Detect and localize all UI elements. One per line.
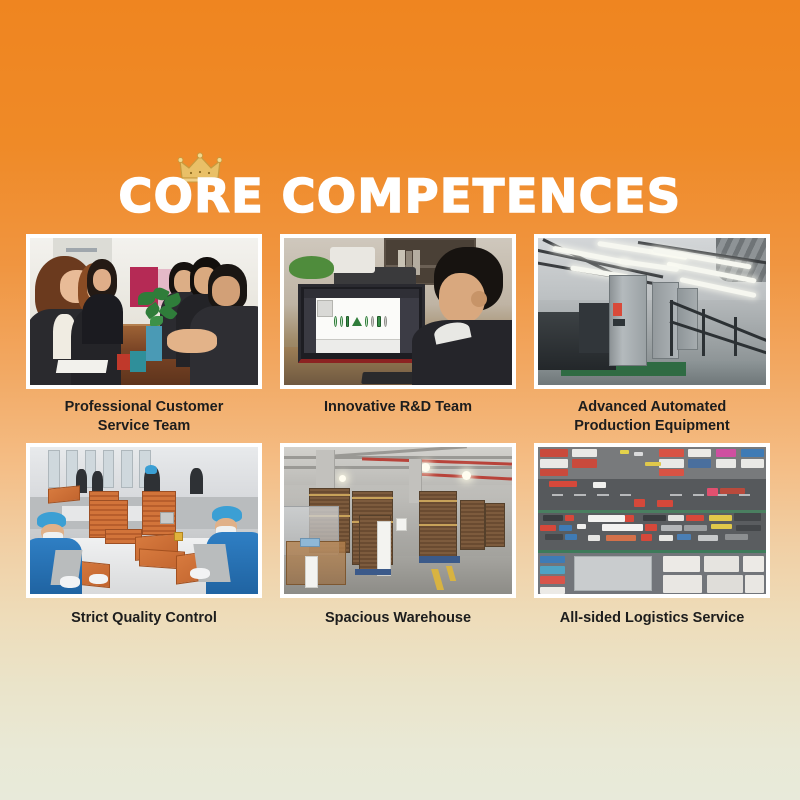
- competence-card-all-sided-logistics-service[interactable]: All-sided Logistics Service: [534, 443, 770, 628]
- photo-aerial-container-yard: [538, 447, 766, 594]
- photo-customer-service-meeting: [30, 238, 258, 385]
- competence-card-advanced-automated-production-equipment[interactable]: Advanced Automated Production Equipment: [534, 234, 770, 435]
- competence-caption: All-sided Logistics Service: [534, 609, 770, 628]
- competence-caption: Professional Customer Service Team: [26, 398, 262, 435]
- photo-frame: [280, 234, 516, 389]
- competence-grid: Professional Customer Service Team: [26, 234, 774, 628]
- photo-frame: [26, 234, 262, 389]
- photo-frame: [534, 234, 770, 389]
- competence-card-spacious-warehouse[interactable]: Spacious Warehouse: [280, 443, 516, 628]
- competence-caption: Innovative R&D Team: [280, 398, 516, 417]
- competence-caption: Strict Quality Control: [26, 609, 262, 628]
- poster-header: CORE COMPETENCES: [0, 152, 800, 220]
- competence-card-innovative-rd-team[interactable]: Innovative R&D Team: [280, 234, 516, 435]
- competence-caption: Spacious Warehouse: [280, 609, 516, 628]
- photo-quality-control-line: [30, 447, 258, 594]
- photo-frame: [534, 443, 770, 598]
- photo-frame: [26, 443, 262, 598]
- photo-printing-press-line: [538, 238, 766, 385]
- core-competences-poster: CORE COMPETENCES: [0, 0, 800, 800]
- competence-caption: Advanced Automated Production Equipment: [534, 398, 770, 435]
- competence-card-strict-quality-control[interactable]: Strict Quality Control: [26, 443, 262, 628]
- page-title: CORE COMPETENCES: [118, 152, 681, 220]
- photo-frame: [280, 443, 516, 598]
- photo-warehouse-pallets: [284, 447, 512, 594]
- photo-rd-designer-monitor: [284, 238, 512, 385]
- competence-card-professional-customer-service-team[interactable]: Professional Customer Service Team: [26, 234, 262, 435]
